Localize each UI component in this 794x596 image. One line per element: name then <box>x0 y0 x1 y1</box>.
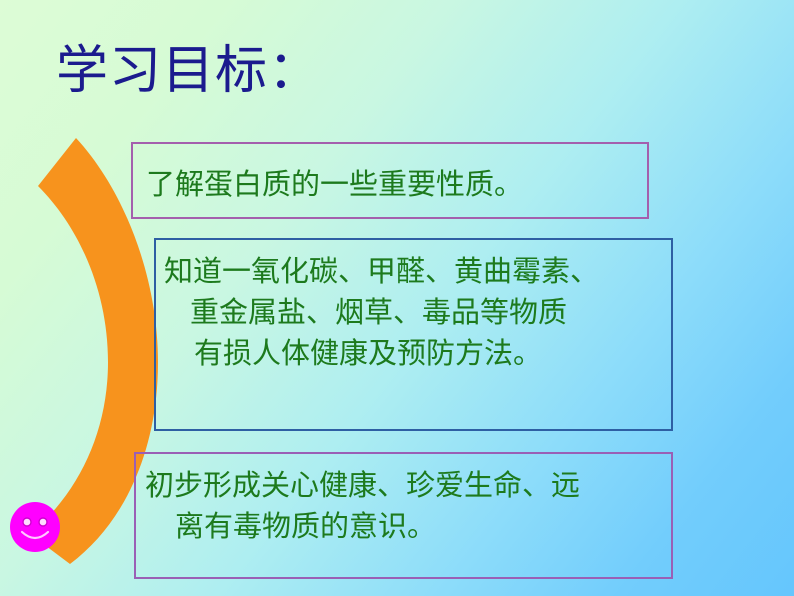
smiley-eye-left <box>23 518 31 526</box>
objective-line: 初步形成关心健康、珍爱生命、远 <box>145 465 671 506</box>
objective-line: 知道一氧化碳、甲醛、黄曲霉素、 <box>164 251 671 292</box>
smiley-eye-right <box>39 518 47 526</box>
objective-line: 重金属盐、烟草、毒品等物质 <box>164 292 671 333</box>
objective-line: 了解蛋白质的一些重要性质。 <box>146 164 647 205</box>
smiley-face <box>9 501 61 553</box>
objective-line: 有损人体健康及预防方法。 <box>164 333 671 374</box>
slide-canvas: 学习目标： 了解蛋白质的一些重要性质。 知道一氧化碳、甲醛、黄曲霉素、 重金属盐… <box>0 0 794 596</box>
objective-box-2: 知道一氧化碳、甲醛、黄曲霉素、 重金属盐、烟草、毒品等物质 有损人体健康及预防方… <box>154 238 673 431</box>
objective-box-3: 初步形成关心健康、珍爱生命、远 离有毒物质的意识。 <box>134 452 673 579</box>
smiley-face-icon <box>9 501 61 553</box>
page-title: 学习目标： <box>56 44 321 99</box>
objective-line: 离有毒物质的意识。 <box>145 506 671 547</box>
objective-box-1: 了解蛋白质的一些重要性质。 <box>131 142 649 219</box>
smiley-head <box>10 502 60 552</box>
